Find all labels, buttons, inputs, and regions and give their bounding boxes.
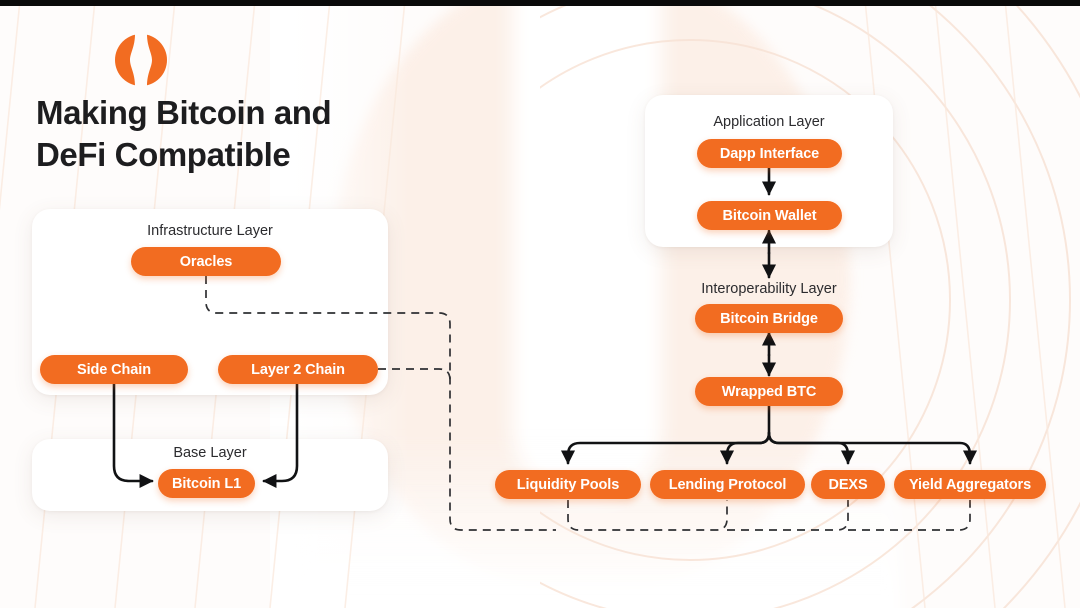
node-yield-aggregators[interactable]: Yield Aggregators	[894, 470, 1046, 499]
node-oracles[interactable]: Oracles	[131, 247, 281, 276]
edge-wrapped-btc-to-dexs	[769, 433, 848, 463]
label-base-layer: Base Layer	[32, 445, 388, 461]
page-title: Making Bitcoin and DeFi Compatible	[36, 92, 456, 176]
watermark-bottom-fade	[300, 430, 900, 608]
edge-wrapped-btc-to-lending-protocol	[727, 433, 769, 463]
page-title-line-2: DeFi Compatible	[36, 134, 456, 176]
edge-layer-2-chain-dashed-rail	[378, 369, 450, 380]
node-bitcoin-l1[interactable]: Bitcoin L1	[158, 469, 255, 498]
edge-dashed-dexs-to-yield	[848, 500, 970, 530]
watermark-circle	[330, 0, 850, 600]
hourglass-circle-logo-icon	[110, 33, 172, 87]
edge-dashed-lending-to-dexs	[727, 500, 848, 530]
edge-wrapped-btc-to-yield-aggregators	[769, 433, 970, 463]
edge-wrapped-btc-to-liquidity-pools	[568, 433, 769, 463]
node-layer-2-chain[interactable]: Layer 2 Chain	[218, 355, 378, 384]
edge-dashed-liquidity-to-lending	[568, 500, 727, 530]
node-wrapped-btc[interactable]: Wrapped BTC	[695, 377, 843, 406]
watermark-notch	[512, 0, 662, 500]
diagram-canvas: Making Bitcoin and DeFi Compatible	[0, 0, 1080, 608]
node-dexs[interactable]: DEXS	[811, 470, 885, 499]
node-liquidity-pools[interactable]: Liquidity Pools	[495, 470, 641, 499]
label-infrastructure-layer: Infrastructure Layer	[32, 223, 388, 239]
node-lending-protocol[interactable]: Lending Protocol	[650, 470, 805, 499]
node-side-chain[interactable]: Side Chain	[40, 355, 188, 384]
node-dapp-interface[interactable]: Dapp Interface	[697, 139, 842, 168]
page-title-line-1: Making Bitcoin and	[36, 92, 456, 134]
label-application-layer: Application Layer	[645, 114, 893, 130]
top-black-bar	[0, 0, 1080, 6]
watermark-logo-shape	[330, 0, 850, 600]
node-bitcoin-bridge[interactable]: Bitcoin Bridge	[695, 304, 843, 333]
label-interoperability-layer: Interoperability Layer	[645, 281, 893, 297]
node-bitcoin-wallet[interactable]: Bitcoin Wallet	[697, 201, 842, 230]
